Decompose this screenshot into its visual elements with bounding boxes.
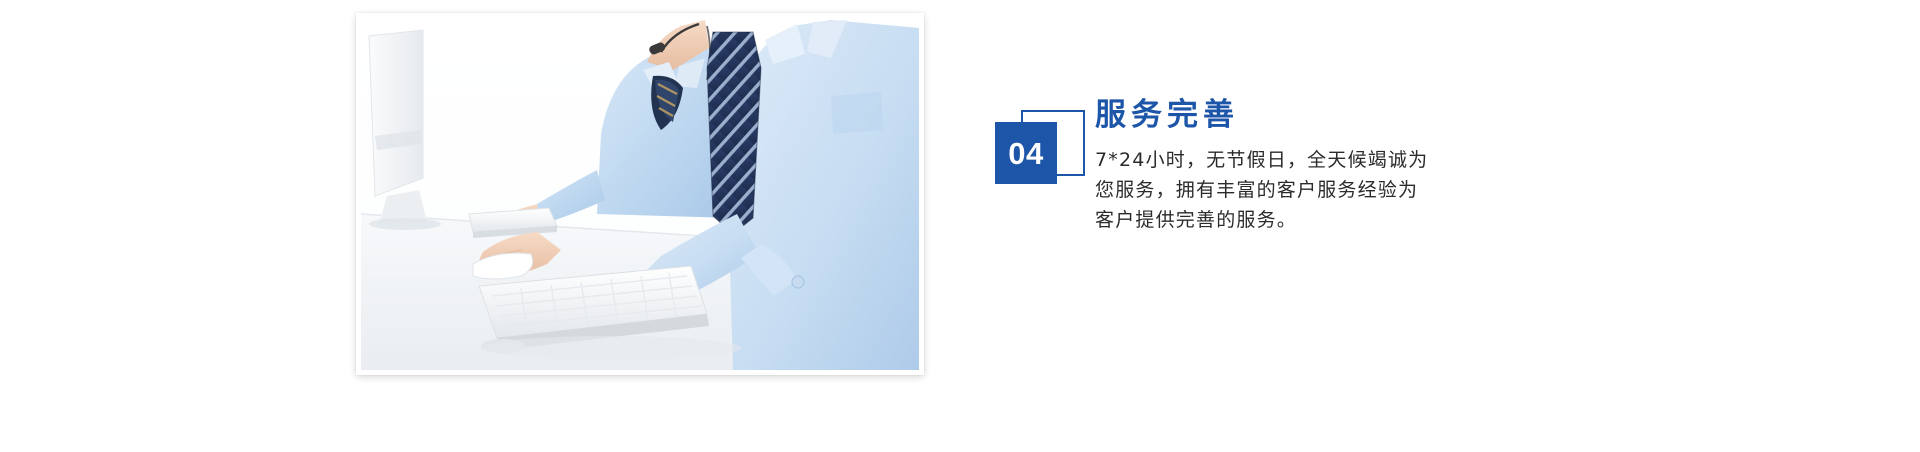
feature-photo: [361, 18, 919, 370]
description-line: 7*24小时，无节假日，全天候竭诚为: [1095, 145, 1525, 175]
description-line: 客户提供完善的服务。: [1095, 205, 1525, 235]
description-line: 您服务，拥有丰富的客户服务经验为: [1095, 175, 1525, 205]
badge-filled-square: 04: [995, 122, 1057, 184]
feature-text-column: 服务完善 7*24小时，无节假日，全天候竭诚为 您服务，拥有丰富的客户服务经验为…: [1095, 96, 1525, 235]
feature-description: 7*24小时，无节假日，全天候竭诚为 您服务，拥有丰富的客户服务经验为 客户提供…: [1095, 145, 1525, 235]
banner-stage: 04 服务完善 7*24小时，无节假日，全天候竭诚为 您服务，拥有丰富的客户服务…: [0, 0, 1920, 452]
badge-number: 04: [1008, 138, 1043, 169]
call-center-agents-illustration: [361, 18, 919, 370]
feature-photo-frame: [356, 13, 924, 375]
feature-number-badge: 04: [995, 110, 1087, 188]
feature-title: 服务完善: [1095, 96, 1525, 135]
